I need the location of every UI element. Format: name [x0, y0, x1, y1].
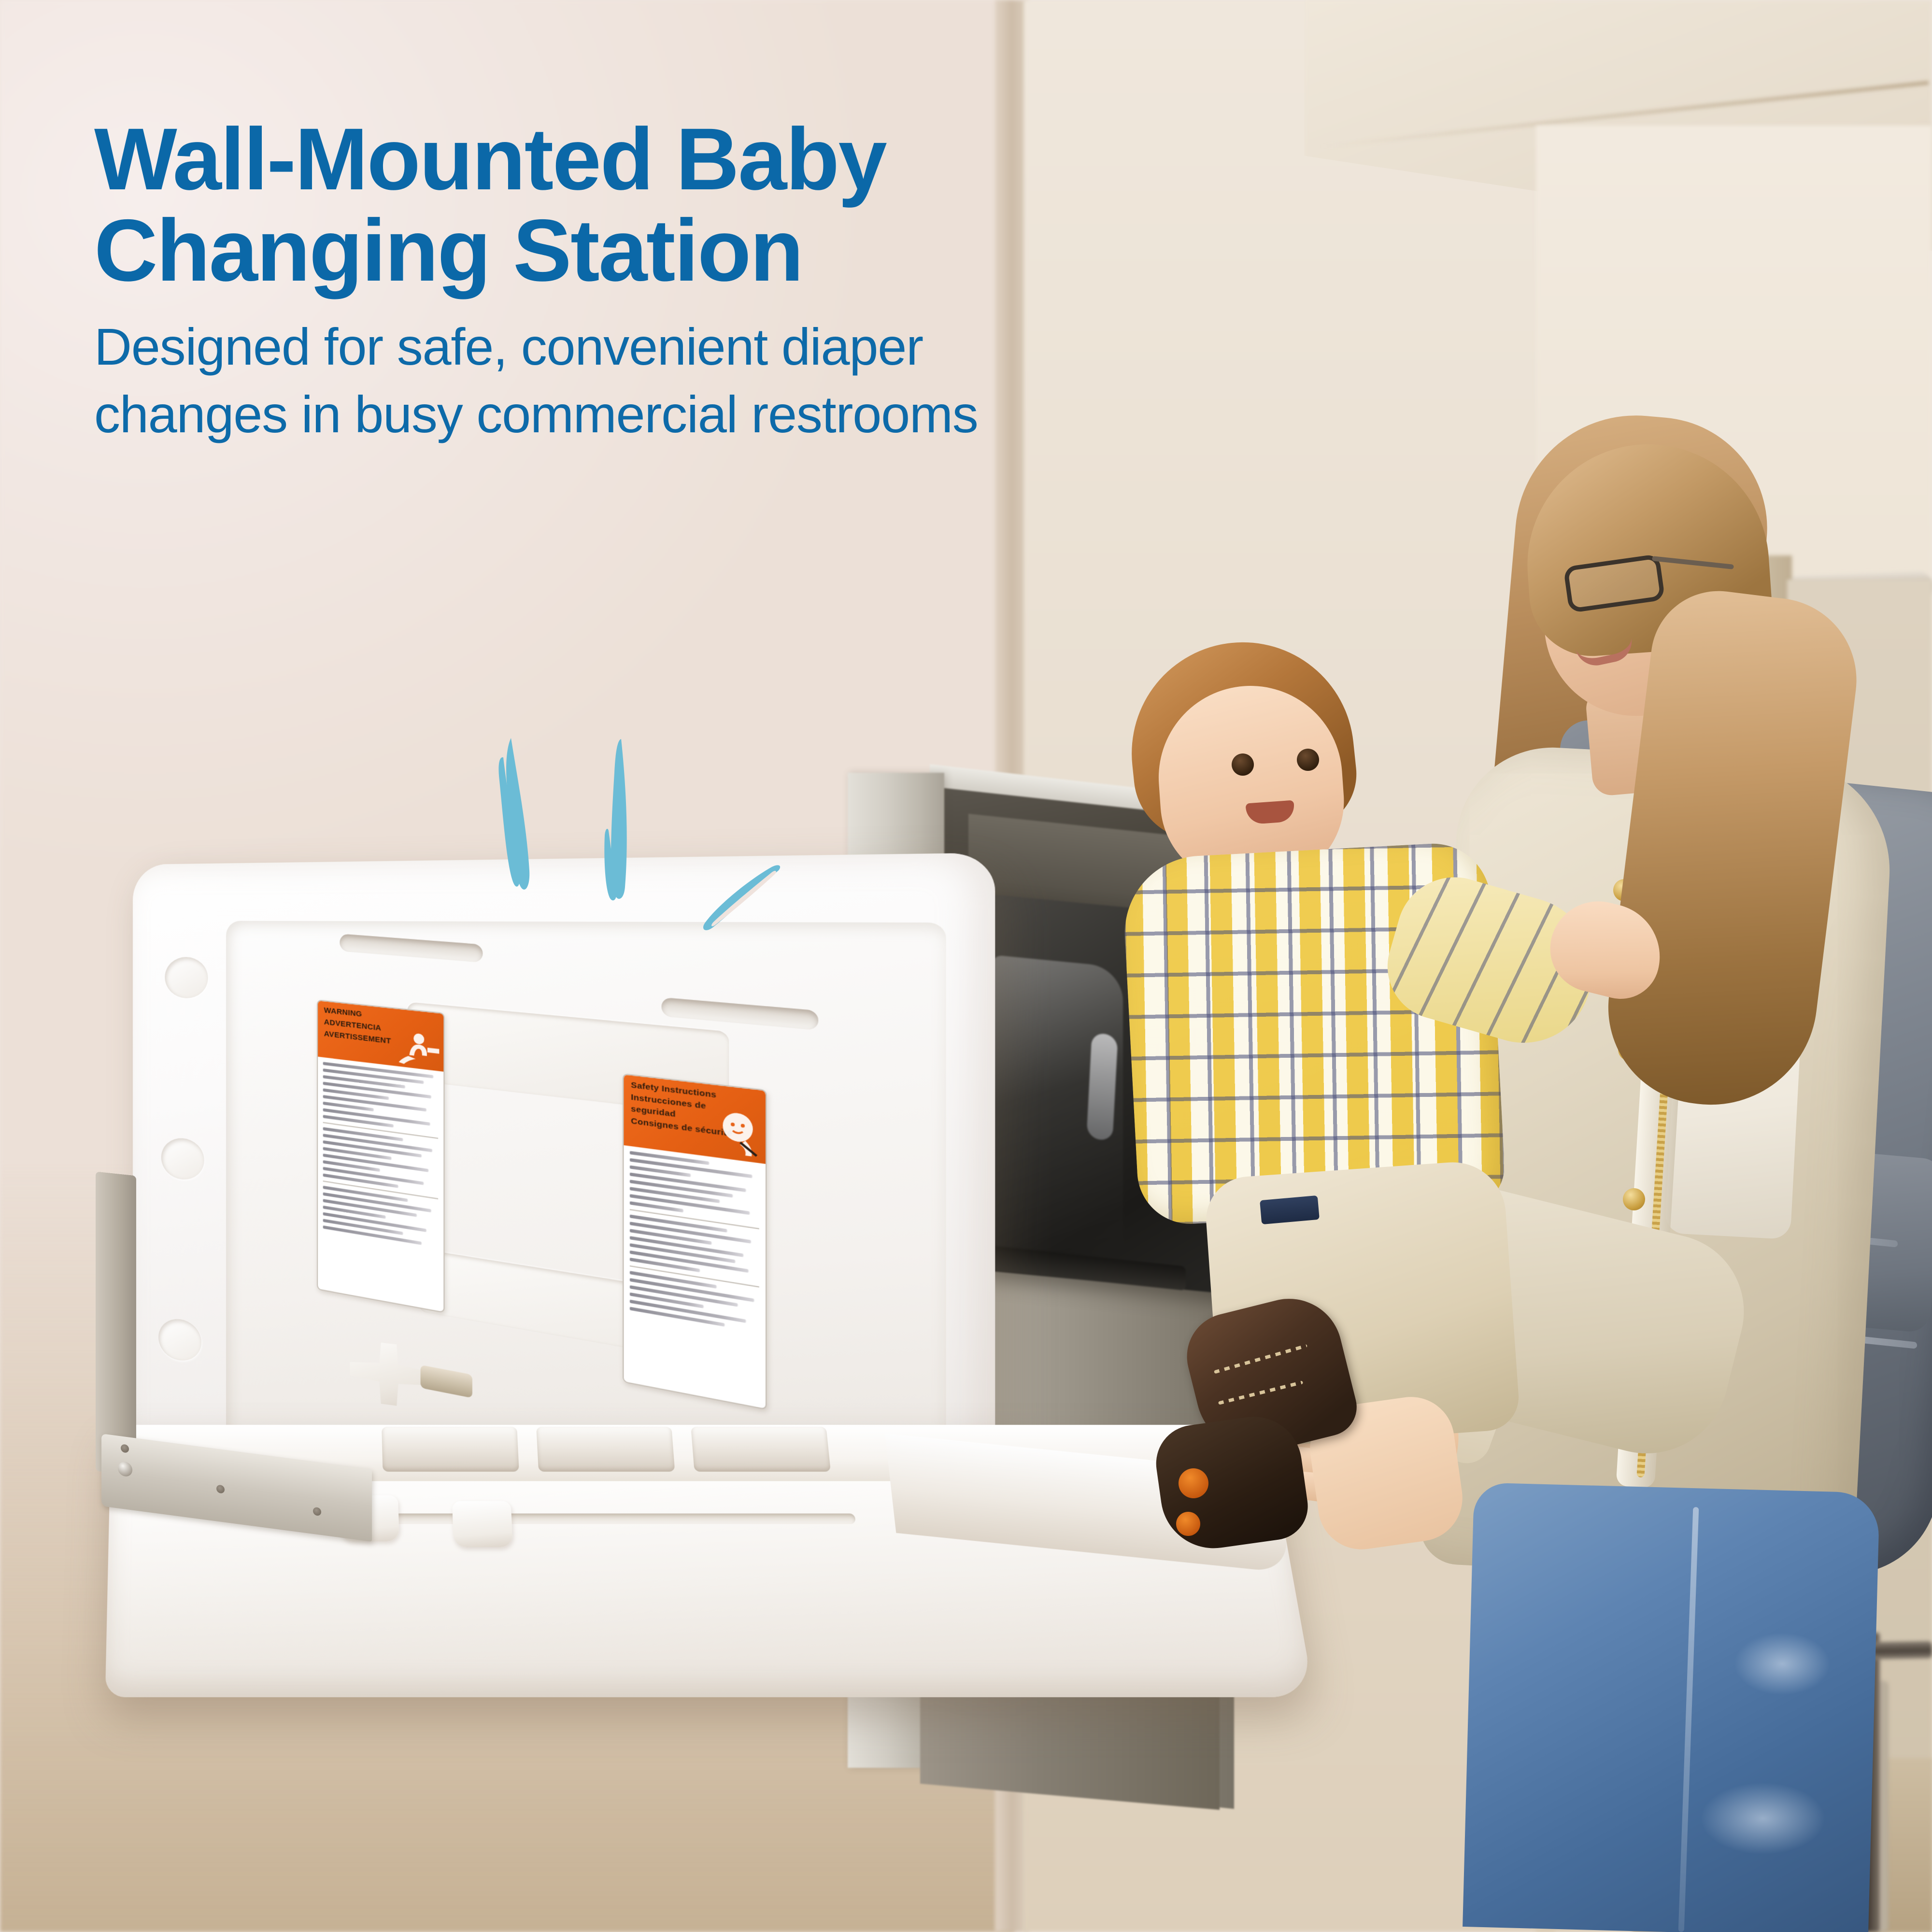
bracket-screw [118, 1461, 132, 1477]
page-subtitle: Designed for safe, convenient diaper cha… [94, 313, 1447, 449]
table-hinge [382, 1427, 519, 1472]
bracket-hole [121, 1444, 129, 1453]
jeans-distress [1700, 1782, 1826, 1855]
shoe-orange-accent [1176, 1512, 1200, 1536]
bracket-hole [216, 1484, 225, 1493]
jeans-distress [1734, 1633, 1831, 1695]
backplate-dimple [158, 1317, 201, 1363]
falling-child-pictogram-icon [398, 1030, 439, 1069]
headline-block: Wall-Mounted Baby Changing Station Desig… [94, 114, 1447, 448]
shoe-orange-accent [1179, 1468, 1208, 1498]
toddler-eye [1232, 753, 1254, 776]
product-hero-scene: Wall-Mounted Baby Changing Station Desig… [0, 0, 1932, 1932]
woman-and-toddler [1101, 415, 1932, 1932]
adult-jeans [1463, 1482, 1880, 1932]
child-on-table-pictogram-icon [717, 1110, 761, 1161]
table-hinge [691, 1427, 831, 1472]
bracket-hole [313, 1507, 321, 1516]
toddler-shoe-second [1151, 1410, 1312, 1555]
safety-instructions-label: Safety Instructions Instrucciones de seg… [623, 1073, 767, 1410]
safety-label-body [624, 1145, 766, 1339]
backplate-dimple [165, 957, 208, 999]
jacket-snap-button [1623, 1188, 1645, 1210]
warning-label-body [318, 1057, 443, 1253]
sparkle-stroke-3-gap [711, 871, 776, 926]
page-title: Wall-Mounted Baby Changing Station [94, 114, 1447, 297]
table-hinge [536, 1427, 675, 1472]
toddler-eye [1297, 749, 1319, 771]
sparkle-accent-icon [493, 734, 802, 937]
toddler-shorts-tag [1260, 1195, 1320, 1224]
warning-label: WARNING ADVERTENCIA AVERTISSEMENT [317, 1000, 444, 1313]
backplate-dimple [161, 1137, 204, 1181]
side-mount-plate [96, 1172, 136, 1476]
surface-nub [452, 1501, 513, 1548]
